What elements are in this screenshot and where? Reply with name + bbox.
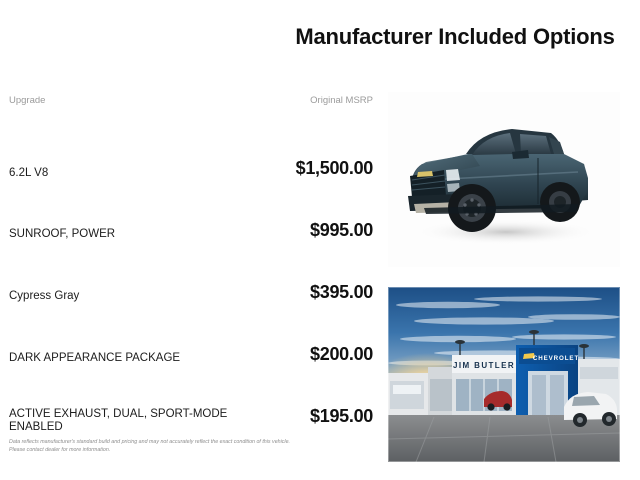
disclaimer-line-2: Please contact dealer for more informati… (9, 446, 369, 454)
dealership-photo[interactable]: JIM BUTLER CHEVROLET (388, 287, 620, 462)
option-label: SUNROOF, POWER (9, 228, 239, 241)
dealership-photo-graphic: JIM BUTLER CHEVROLET (388, 287, 620, 462)
option-price: $195.00 (310, 406, 373, 427)
table-row: Cypress Gray $395.00 (0, 242, 380, 304)
dealer-sign-primary: JIM BUTLER (453, 361, 515, 370)
vehicle-photo[interactable] (388, 92, 620, 267)
page-title: Manufacturer Included Options (290, 24, 620, 50)
option-label: DARK APPEARANCE PACKAGE (9, 352, 239, 365)
column-header-msrp: Original MSRP (310, 95, 373, 106)
option-price: $995.00 (310, 220, 373, 241)
table-header-row: Upgrade Original MSRP (0, 92, 380, 118)
table-row: SUNROOF, POWER $995.00 (0, 180, 380, 242)
option-label: 6.2L V8 (9, 167, 239, 180)
disclaimer-text: Data reflects manufacturer's standard bu… (9, 438, 369, 455)
option-price: $200.00 (310, 344, 373, 365)
option-label: Cypress Gray (9, 290, 239, 303)
option-price: $395.00 (310, 282, 373, 303)
option-price: $1,500.00 (296, 158, 373, 179)
vehicle-photo-graphic (388, 92, 620, 267)
column-header-upgrade: Upgrade (9, 95, 45, 106)
table-row: ACTIVE EXHAUST, DUAL, SPORT-MODE ENABLED… (0, 366, 380, 428)
table-row: 6.2L V8 $1,500.00 (0, 118, 380, 180)
options-table: Upgrade Original MSRP 6.2L V8 $1,500.00 … (0, 92, 380, 428)
table-row: DARK APPEARANCE PACKAGE $200.00 (0, 304, 380, 366)
option-label: ACTIVE EXHAUST, DUAL, SPORT-MODE ENABLED (9, 408, 239, 434)
disclaimer-line-1: Data reflects manufacturer's standard bu… (9, 438, 369, 446)
options-page: Manufacturer Included Options Upgrade Or… (0, 0, 640, 480)
dealer-sign-secondary: CHEVROLET (533, 355, 579, 362)
